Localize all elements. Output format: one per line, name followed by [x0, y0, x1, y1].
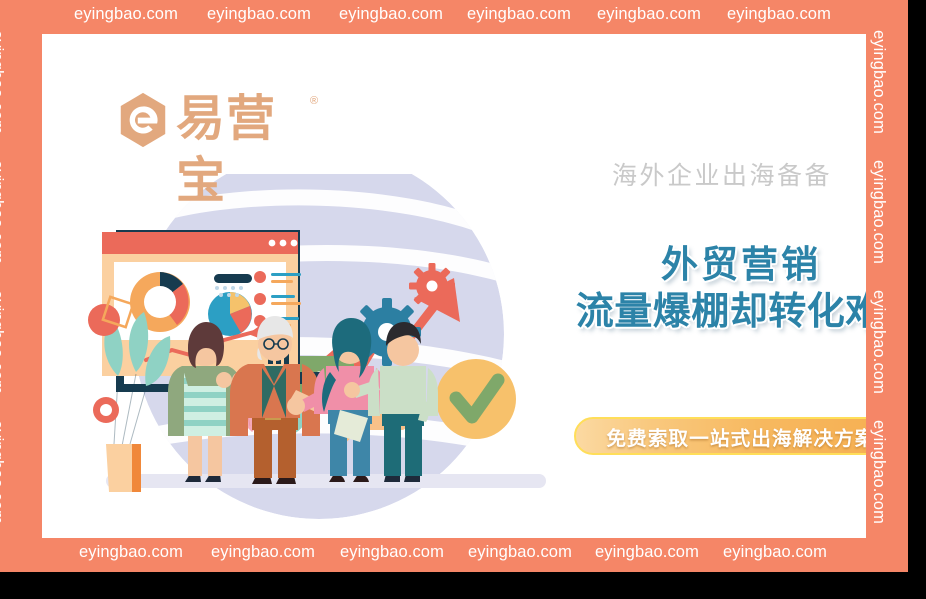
watermark-left-4: eyingbao.com	[0, 420, 6, 524]
dashboard-bar	[214, 274, 252, 283]
watermark-top-6: eyingbao.com	[727, 5, 831, 24]
watermark-bottom-1: eyingbao.com	[79, 543, 183, 562]
watermark-bottom-5: eyingbao.com	[595, 543, 699, 562]
headline-line-1: 外贸营销	[561, 244, 866, 286]
watermark-top-1: eyingbao.com	[74, 5, 178, 24]
decor-lifebuoy	[93, 397, 119, 423]
cta-button[interactable]: 免费索取一站式出海解决方案	[574, 417, 866, 455]
watermark-right-3: eyingbao.com	[869, 290, 888, 394]
watermark-bottom-3: eyingbao.com	[340, 543, 444, 562]
watermark-top-2: eyingbao.com	[207, 5, 311, 24]
business-team-analytics-illustration	[84, 174, 584, 519]
logo-wordmark: 易营宝	[176, 88, 314, 212]
floor-shadow	[106, 474, 546, 488]
watermark-bottom-6: eyingbao.com	[723, 543, 827, 562]
poster-headline: 外贸营销 流量爆棚却转化难?	[561, 244, 866, 334]
registered-trademark-icon: ®	[310, 95, 318, 107]
watermark-left-1: eyingbao.com	[0, 30, 6, 134]
cta-button-label: 免费索取一站式出海解决方案	[606, 422, 866, 451]
gear-small-icon	[409, 263, 455, 309]
watermark-top-3: eyingbao.com	[339, 5, 443, 24]
watermark-bottom-4: eyingbao.com	[468, 543, 572, 562]
watermark-frame: eyingbao.com eyingbao.com eyingbao.com e…	[0, 0, 908, 572]
poster-canvas: eyingbao.com eyingbao.com eyingbao.com e…	[0, 0, 926, 599]
watermark-right-4: eyingbao.com	[869, 420, 888, 524]
poster-subtitle: 海外企业出海备备	[612, 156, 832, 192]
watermark-right-2: eyingbao.com	[869, 160, 888, 264]
brand-logo: 易营宝 ®	[114, 89, 314, 151]
watermark-right-1: eyingbao.com	[869, 30, 888, 134]
poster-card: 易营宝 ® 海外企业出海备备 外贸营销 流量爆棚却转化难? 免费索取一站式出海解…	[42, 34, 866, 538]
eyingbao-hexagon-e-logo-icon	[114, 91, 172, 149]
watermark-left-2: eyingbao.com	[0, 160, 6, 264]
watermark-bottom-2: eyingbao.com	[211, 543, 315, 562]
watermark-left-3: eyingbao.com	[0, 290, 6, 394]
checkmark-badge-icon	[436, 359, 516, 439]
headline-line-2: 流量爆棚却转化难?	[561, 288, 866, 334]
watermark-top-5: eyingbao.com	[597, 5, 701, 24]
watermark-top-4: eyingbao.com	[467, 5, 571, 24]
